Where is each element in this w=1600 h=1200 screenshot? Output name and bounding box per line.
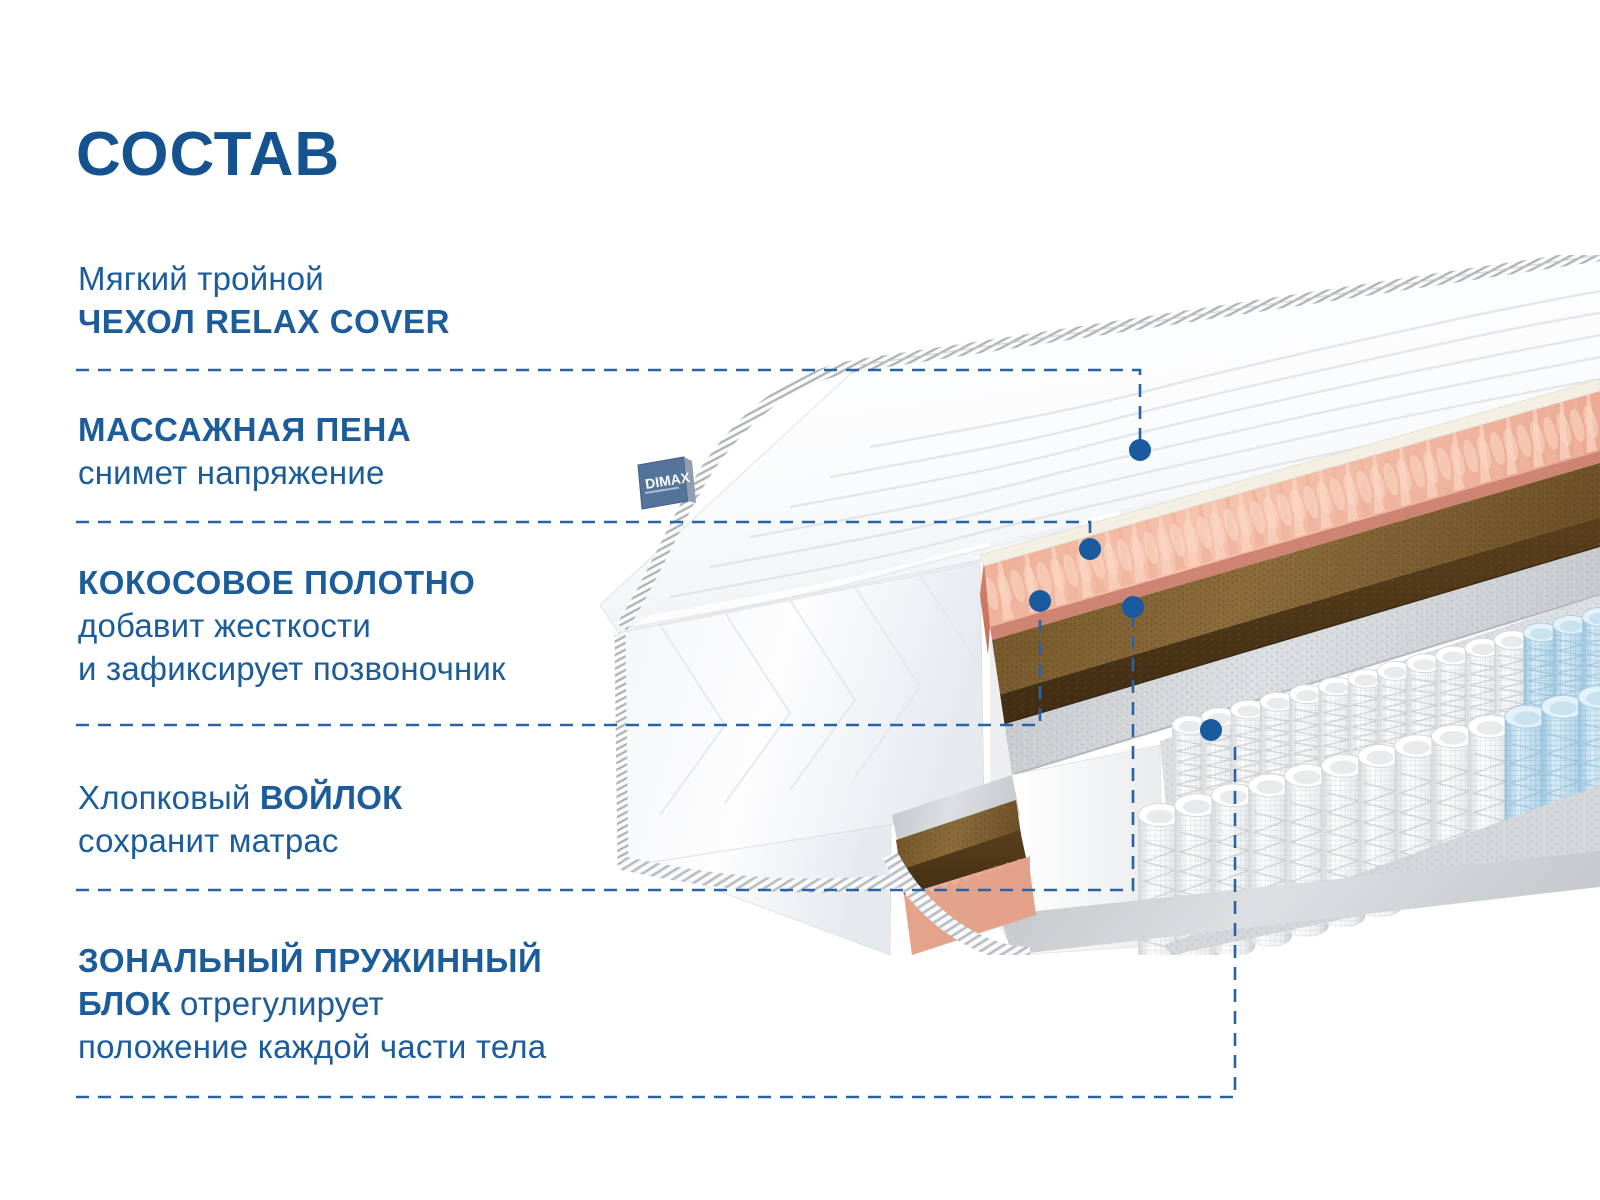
callout-4-line-2: сохранит матрас: [78, 820, 402, 863]
infographic-page: СОСТАВ: [0, 0, 1600, 1200]
callout-5-keyword: БЛОК: [78, 985, 171, 1022]
page-title: СОСТАВ: [76, 124, 340, 186]
callout-3-line-1: КОКОСОВОЕ ПОЛОТНО: [78, 562, 506, 605]
callout-3-line-2: добавит жесткости: [78, 605, 506, 648]
callout-1-line-2: ЧЕХОЛ RELAX COVER: [78, 301, 450, 344]
callout-zonal-spring-block: ЗОНАЛЬНЫЙ ПРУЖИННЫЙ БЛОК отрегулирует по…: [78, 940, 546, 1069]
callout-4-line-1: Хлопковый ВОЙЛОК: [78, 777, 402, 820]
callout-2-line-1: МАССАЖНАЯ ПЕНА: [78, 409, 411, 452]
brand-label: DIMAX: [638, 457, 696, 509]
callout-1-line-1: Мягкий тройной: [78, 258, 450, 301]
callout-4-keyword: ВОЙЛОК: [260, 779, 403, 816]
callout-relax-cover: Мягкий тройной ЧЕХОЛ RELAX COVER: [78, 258, 450, 344]
callout-3-line-3: и зафиксирует позвоночник: [78, 648, 506, 691]
callout-5-line-3: положение каждой части тела: [78, 1026, 546, 1069]
callout-cotton-felt: Хлопковый ВОЙЛОК сохранит матрас: [78, 777, 402, 863]
mattress-cutaway-illustration: DIMAX: [560, 255, 1600, 955]
callout-5-line-2: БЛОК отрегулирует: [78, 983, 546, 1026]
callout-5-line-1: ЗОНАЛЬНЫЙ ПРУЖИННЫЙ: [78, 940, 546, 983]
callout-2-line-2: снимет напряжение: [78, 452, 411, 495]
callout-massage-foam: МАССАЖНАЯ ПЕНА снимет напряжение: [78, 409, 411, 495]
callout-5-line-2-rest: отрегулирует: [171, 985, 384, 1022]
callout-4-prefix: Хлопковый: [78, 779, 260, 816]
callout-coconut-coir: КОКОСОВОЕ ПОЛОТНО добавит жесткости и за…: [78, 562, 506, 691]
